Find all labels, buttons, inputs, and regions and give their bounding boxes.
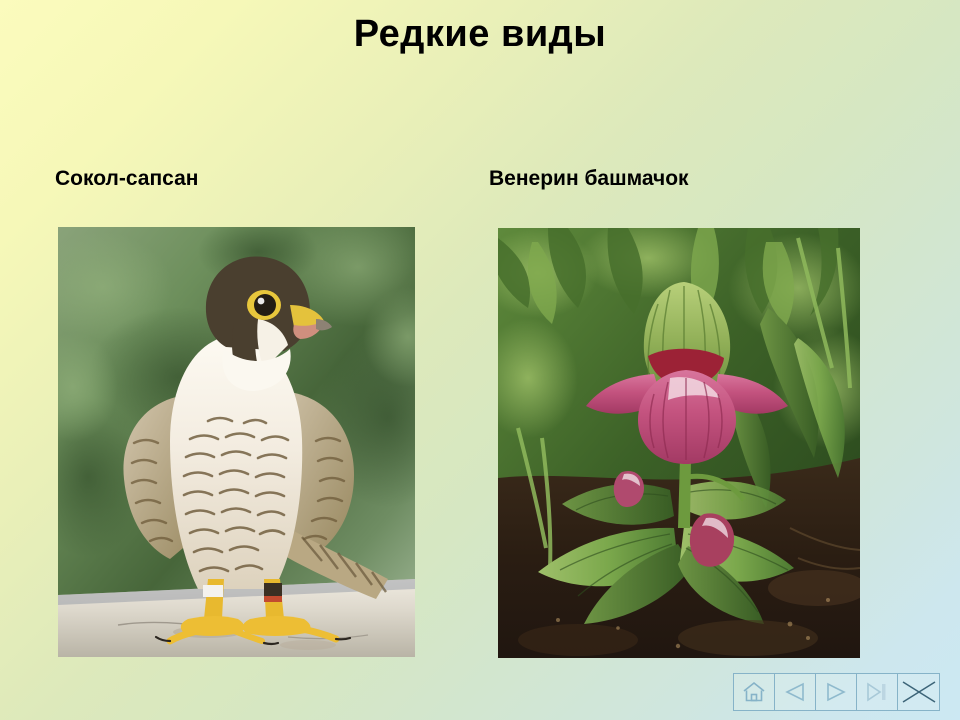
last-slide-icon[interactable]: [857, 674, 898, 710]
next-icon[interactable]: [816, 674, 857, 710]
caption-falcon: Сокол-сапсан: [55, 166, 198, 192]
slide-navigation-bar[interactable]: [733, 673, 940, 711]
peregrine-falcon-photo: [58, 227, 415, 657]
page-title: Редкие виды: [0, 12, 960, 56]
presentation-slide: Редкие виды Сокол-сапсан Венерин башмачо…: [0, 0, 960, 720]
previous-icon[interactable]: [775, 674, 816, 710]
ladys-slipper-orchid-photo: [498, 228, 860, 658]
home-icon[interactable]: [734, 674, 775, 710]
orchid-illustration: [498, 228, 860, 658]
caption-orchid: Венерин башмачок: [489, 166, 689, 192]
falcon-illustration: [58, 227, 415, 657]
close-icon[interactable]: [898, 674, 939, 710]
